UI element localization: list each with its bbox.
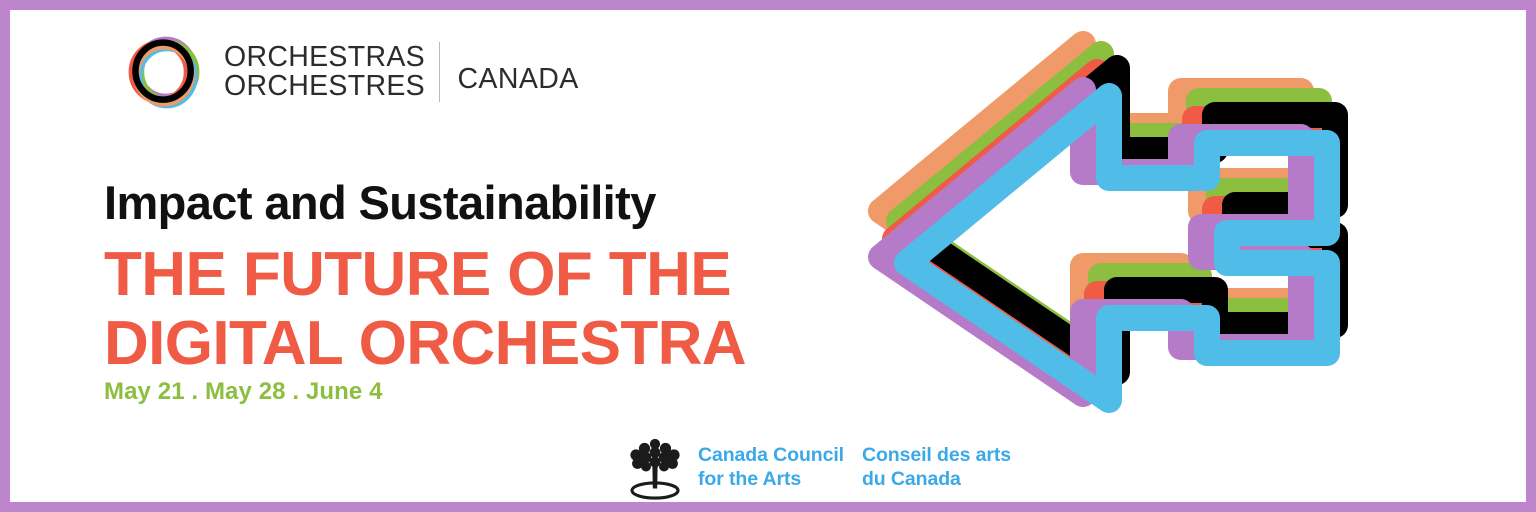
title-line-1: THE FUTURE OF THE [104, 244, 864, 306]
ccfa-en-line-2: for the Arts [698, 468, 844, 492]
ccfa-en-line-1: Canada Council [698, 444, 844, 468]
canada-council-tree-mark [624, 435, 686, 501]
title-line-2: DIGITAL ORCHESTRA [104, 313, 864, 375]
ccfa-fr-line-2: du Canada [862, 468, 1011, 492]
canada-council-english-name: Canada Council for the Arts [698, 444, 844, 492]
subtitle: Impact and Sustainability [104, 178, 864, 228]
multicolor-layered-left-arrow [855, 20, 1495, 450]
event-dates: May 21 . May 28 . June 4 [104, 378, 383, 406]
canada-council-french-name: Conseil des arts du Canada [862, 444, 1011, 492]
headline-column: Impact and Sustainability THE FUTURE OF … [104, 50, 864, 490]
promotional-banner: ORCHESTRAS ORCHESTRES CANADA Impact and … [0, 0, 1536, 512]
headline-block: Impact and Sustainability THE FUTURE OF … [104, 178, 864, 375]
